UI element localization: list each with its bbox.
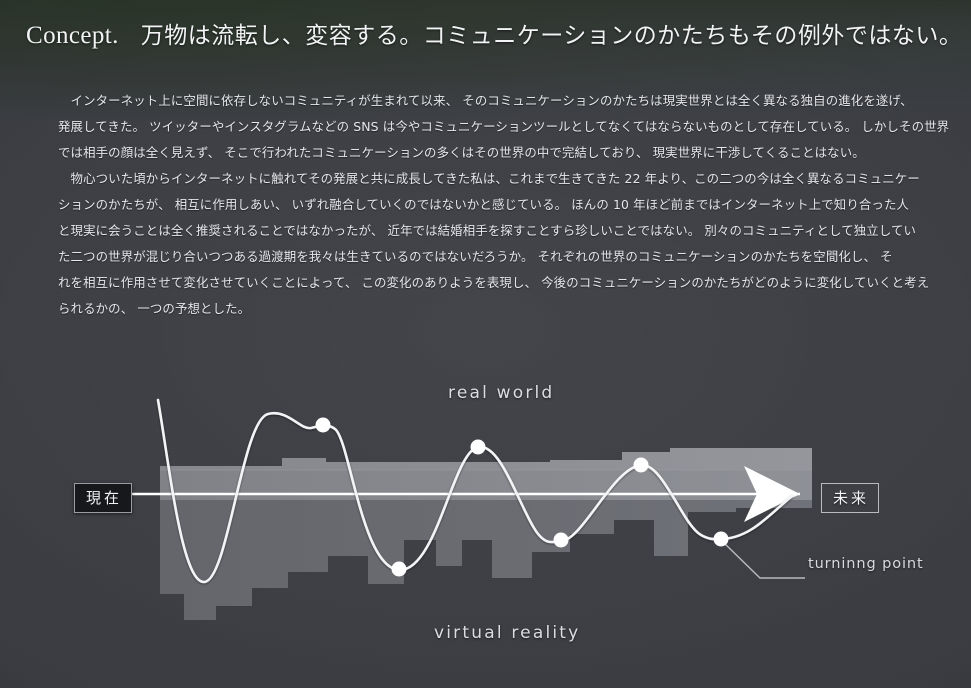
headline-japanese: 万物は流転し、変容する。コミュニケーションのかたちもその例外ではない。	[141, 23, 963, 49]
marker-peak-2	[471, 440, 486, 455]
poster-header: Concept.万物は流転し、変容する。コミュニケーションのかたちもその例外では…	[0, 16, 971, 58]
paragraph-2: 物心ついた頃からインターネットに触れてその発展と共に成長してきた私は、これまで生…	[58, 166, 916, 322]
paragraph-line: では相手の顔は全く見えず、 そこで行われたコミュニケーションの多くはその世界の中…	[58, 140, 916, 166]
marker-peak-1	[316, 418, 331, 433]
concept-label: Concept.	[26, 22, 119, 49]
label-future: 未来	[821, 483, 879, 513]
label-present: 現在	[74, 483, 132, 513]
paragraph-line: と現実に会うことは全く推奨されることではなかったが、 近年では結婚相手を探すこと…	[58, 218, 916, 244]
label-virtual-reality: virtual reality	[434, 623, 580, 643]
turning-point-leader-line	[722, 541, 805, 578]
paragraph-line: れを相互に作用させて変化させていくことによって、 この変化のありようを表現し、 …	[58, 270, 916, 296]
paragraph-line: インターネット上に空間に依存しないコミュニティが生まれて以来、 そのコミュニケー…	[58, 88, 916, 114]
paragraph-line: た二つの世界が混じり合いつつある過渡期を我々は生きているのではないだろうか。 そ…	[58, 244, 916, 270]
body-copy: インターネット上に空間に依存しないコミュニティが生まれて以来、 そのコミュニケー…	[58, 88, 916, 322]
paragraph-line: られるかの、 一つの予想とした。	[58, 296, 916, 322]
page-title: Concept.万物は流転し、変容する。コミュニケーションのかたちもその例外では…	[26, 16, 962, 50]
steps-upper	[160, 448, 812, 500]
paragraph-line: 発展してきた。 ツイッターやインスタグラムなどの SNS は今やコミュニケーショ…	[58, 114, 916, 140]
marker-trough-1	[392, 562, 407, 577]
label-turning-point: turninng point	[808, 556, 924, 572]
paragraph-line: 物心ついた頃からインターネットに触れてその発展と共に成長してきた私は、これまで生…	[58, 166, 916, 192]
label-real-world: real world	[448, 383, 554, 403]
marker-turning-point	[714, 532, 729, 547]
concept-poster: Concept.万物は流転し、変容する。コミュニケーションのかたちもその例外では…	[0, 0, 971, 688]
paragraph-1: インターネット上に空間に依存しないコミュニティが生まれて以来、 そのコミュニケー…	[58, 88, 916, 166]
marker-peak-3	[634, 458, 649, 473]
paragraph-line: ションのかたちが、 相互に作用しあい、 いずれ融合していくのではないかと感じてい…	[58, 192, 916, 218]
marker-trough-2	[554, 533, 569, 548]
